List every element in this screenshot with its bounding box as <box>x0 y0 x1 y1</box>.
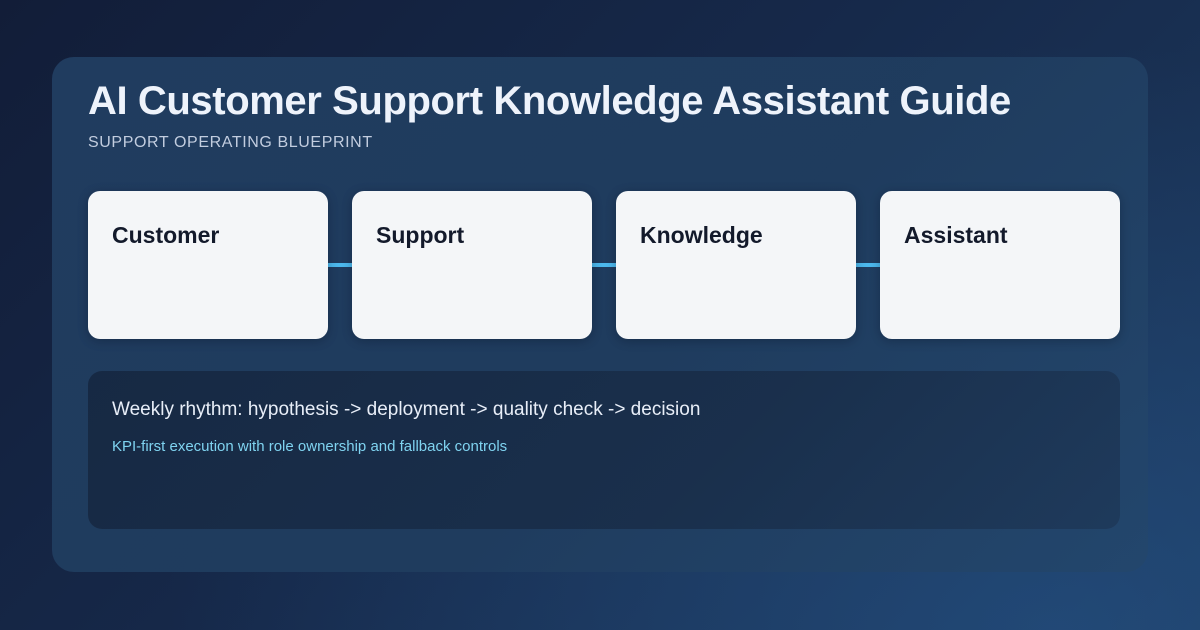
connector-line-2 <box>592 191 616 339</box>
summary-subline: KPI-first execution with role ownership … <box>112 437 507 457</box>
page-title: AI Customer Support Knowledge Assistant … <box>88 75 1108 127</box>
content-panel: AI Customer Support Knowledge Assistant … <box>52 57 1148 572</box>
header: AI Customer Support Knowledge Assistant … <box>88 75 1108 153</box>
connector-line-1 <box>328 191 352 339</box>
stage-card-customer[interactable]: Customer <box>88 191 328 339</box>
page-subtitle: SUPPORT OPERATING BLUEPRINT <box>88 133 1108 153</box>
connector-line-3 <box>856 191 880 339</box>
stage-flow: Customer Support Knowledge Assistant <box>88 191 1120 339</box>
stage-label: Support <box>376 221 464 249</box>
stage-card-support[interactable]: Support <box>352 191 592 339</box>
stage-card-knowledge[interactable]: Knowledge <box>616 191 856 339</box>
summary-panel: Weekly rhythm: hypothesis -> deployment … <box>88 371 1120 529</box>
stage-label: Customer <box>112 221 219 249</box>
stage-card-assistant[interactable]: Assistant <box>880 191 1120 339</box>
stage-label: Assistant <box>904 221 1008 249</box>
summary-headline: Weekly rhythm: hypothesis -> deployment … <box>112 398 700 422</box>
slide-canvas: AI Customer Support Knowledge Assistant … <box>0 0 1200 630</box>
stage-label: Knowledge <box>640 221 763 249</box>
